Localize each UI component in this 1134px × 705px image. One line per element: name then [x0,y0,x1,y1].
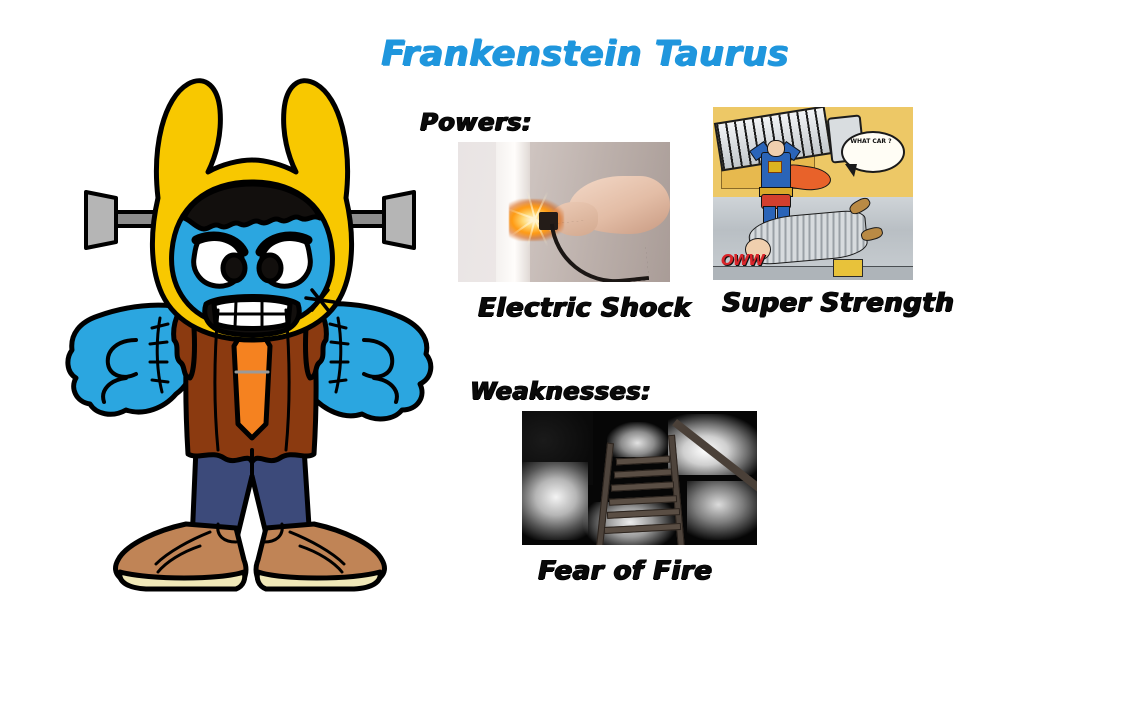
page-title: Frankenstein Taurus [360,34,810,74]
comic-speech-bubble: WHAT CAR ? [845,138,897,145]
super-strength-caption: Super Strength [722,288,954,318]
weaknesses-heading: Weaknesses: [470,377,651,405]
poster-canvas: Frankenstein Taurus [0,0,1134,705]
electric-shock-caption: Electric Shock [478,293,691,323]
comic-sound-effect: OWW [721,251,764,269]
super-strength-comic-panel: WHAT CAR ? OWW [713,107,913,280]
character-illustration [40,72,460,592]
powers-heading: Powers: [420,108,532,136]
fear-of-fire-photo [522,411,757,545]
fear-of-fire-caption: Fear of Fire [538,556,712,586]
electric-shock-photo [458,142,670,282]
